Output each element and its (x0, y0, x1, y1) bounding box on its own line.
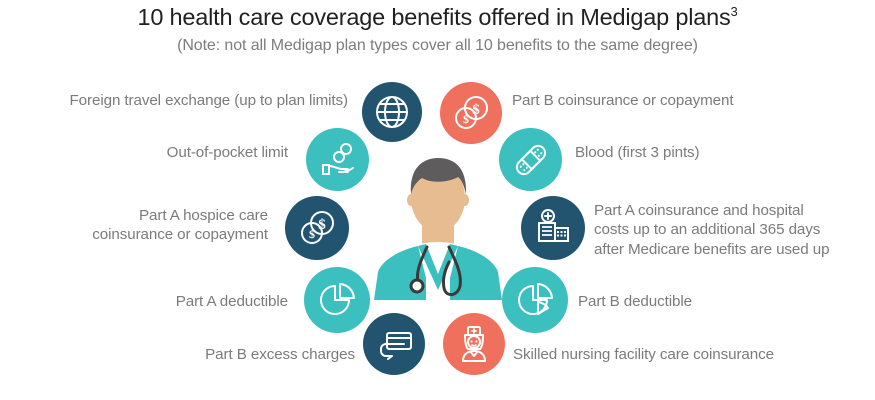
benefit-label-foreign-travel-exchange: Foreign travel exchange (up to plan limi… (10, 91, 348, 110)
benefit-label-blood-first-3-pints: Blood (first 3 pints) (575, 143, 865, 162)
svg-text:$: $ (463, 112, 469, 126)
benefit-badge-blood-first-3-pints[interactable] (499, 128, 562, 191)
benefit-badge-part-a-deductible[interactable] (304, 267, 370, 333)
benefit-badge-skilled-nursing-facility-care[interactable] (443, 313, 505, 375)
page-title-footnote-marker: 3 (731, 4, 738, 19)
pie-chart-icon (514, 279, 556, 321)
benefit-label-part-b-coinsurance-copayment: Part B coinsurance or copayment (512, 91, 862, 110)
page-title-text: 10 health care coverage benefits offered… (137, 4, 730, 30)
hospital-icon (533, 208, 573, 248)
benefit-badge-out-of-pocket-limit[interactable] (306, 128, 369, 191)
benefit-badge-part-b-coinsurance-copayment[interactable]: $ $ (440, 82, 502, 144)
page-title: 10 health care coverage benefits offered… (0, 4, 875, 31)
pie-chart-icon (316, 279, 358, 321)
nurse-icon (454, 324, 494, 364)
credit-card-icon (374, 324, 414, 364)
svg-text:$: $ (472, 102, 480, 118)
page-subtitle: (Note: not all Medigap plan types cover … (0, 37, 875, 55)
globe-icon (374, 94, 410, 130)
benefit-badge-part-b-deductible[interactable] (502, 267, 568, 333)
bandage-icon (511, 140, 551, 180)
benefit-badge-part-b-excess-charges[interactable] (363, 313, 425, 375)
benefit-label-part-a-coinsurance-hospital-costs: Part A coinsurance and hospital costs up… (594, 201, 869, 259)
coins-dollar-icon: $ $ (297, 208, 337, 248)
hand-coins-icon (318, 140, 358, 180)
coins-dollar-icon: $ $ (451, 93, 491, 133)
header: 10 health care coverage benefits offered… (0, 4, 875, 55)
svg-text:$: $ (318, 217, 326, 233)
benefit-label-part-a-deductible: Part A deductible (60, 292, 288, 311)
benefit-badge-part-a-hospice-care[interactable]: $ $ (285, 196, 349, 260)
doctor-figure-svg (370, 150, 506, 302)
benefit-label-part-b-deductible: Part B deductible (578, 292, 868, 311)
benefit-badge-part-a-coinsurance-hospital-costs[interactable] (521, 196, 585, 260)
benefit-label-out-of-pocket-limit: Out-of-pocket limit (60, 143, 288, 162)
benefit-label-part-a-hospice-care: Part A hospice care coinsurance or copay… (40, 206, 268, 245)
benefit-badge-foreign-travel-exchange[interactable] (362, 82, 422, 142)
svg-text:$: $ (309, 227, 315, 241)
benefit-label-skilled-nursing-facility-care: Skilled nursing facility care coinsuranc… (513, 345, 863, 364)
benefit-label-part-b-excess-charges: Part B excess charges (110, 345, 355, 364)
doctor-illustration (370, 150, 506, 307)
infographic-canvas: 10 health care coverage benefits offered… (0, 0, 875, 400)
